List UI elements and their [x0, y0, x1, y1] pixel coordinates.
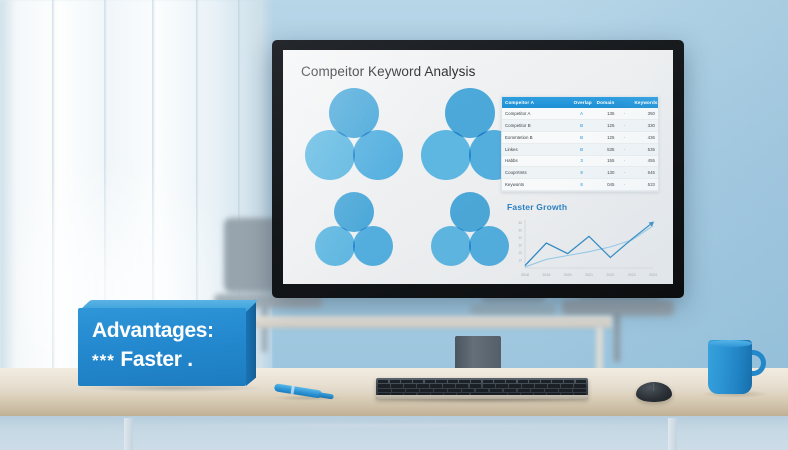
table-row[interactable]: Competitor AA135-350	[502, 108, 658, 119]
column-header-keywords[interactable]: Keywords	[631, 97, 658, 108]
chart-x-tick: 2018	[521, 273, 529, 277]
table-row[interactable]: LinkesB535-535	[502, 143, 658, 155]
mug-rim	[708, 340, 752, 347]
keyboard-row	[378, 384, 586, 387]
keyboard-key[interactable]	[430, 384, 442, 387]
keyboard-key[interactable]	[448, 389, 461, 392]
keyboard-key[interactable]	[470, 384, 482, 387]
cell-competitor: Cooprrtmts	[502, 167, 571, 179]
chart-x-tick: 2024	[649, 273, 657, 277]
block-side-face	[246, 300, 256, 386]
keyboard-key[interactable]	[552, 380, 562, 383]
cell-overlap: B	[571, 143, 593, 155]
block-period: .	[187, 348, 193, 371]
cell-dash: -	[617, 143, 631, 155]
keyboard-key[interactable]	[559, 389, 572, 392]
chart-x-tick: 2023	[628, 273, 636, 277]
chart-y-tick: 10	[518, 259, 522, 263]
keyboard-key[interactable]	[391, 384, 403, 387]
keyboard-key[interactable]	[483, 384, 495, 387]
keyboard-key[interactable]	[529, 380, 539, 383]
column-header-domain[interactable]: Domain	[592, 97, 617, 108]
cell-keywords: 645	[631, 167, 658, 179]
keyboard-key[interactable]	[401, 380, 411, 383]
slide-title: Compeitor Keyword Analysis	[301, 64, 475, 79]
cell-domain: 155	[592, 155, 617, 167]
block-line-2: *** Faster .	[92, 349, 238, 370]
keyboard-key[interactable]	[392, 389, 405, 392]
cell-overlap: B	[571, 131, 593, 143]
keyboard-key[interactable]	[494, 380, 504, 383]
desk-crossbar	[90, 424, 700, 428]
chart-y-axis-labels: 102030405060	[518, 221, 522, 263]
coffee-mug[interactable]	[708, 340, 766, 394]
keyboard-key[interactable]	[378, 380, 388, 383]
cell-dash: -	[617, 108, 631, 119]
computer-monitor: Compeitor Keyword Analysis	[272, 40, 684, 298]
chart-x-tick: 2020	[564, 273, 572, 277]
keyboard-key[interactable]	[504, 389, 517, 392]
cell-dash: -	[617, 179, 631, 191]
desk-leg	[124, 418, 133, 450]
cell-dash: -	[617, 167, 631, 179]
cell-competitor: Habbs	[502, 155, 571, 167]
block-word-faster: Faster	[120, 348, 181, 371]
keyboard-keys[interactable]	[378, 380, 586, 395]
cell-domain: 125	[592, 120, 617, 132]
chart-y-tick: 60	[518, 221, 522, 225]
cell-keywords: 533	[631, 179, 658, 191]
keyboard-key[interactable]	[420, 389, 433, 392]
keyboard-key[interactable]	[378, 384, 390, 387]
growth-chart[interactable]: Faster Growth 102030405060 2018201920202…	[501, 202, 659, 284]
venn-small-right[interactable]	[431, 192, 509, 270]
cell-competitor: Competitor A	[502, 108, 571, 119]
keyboard-key[interactable]	[378, 389, 391, 392]
table-header-row: Compeitor A Overlap Domain Keywords	[502, 97, 658, 108]
cell-dash: -	[617, 120, 631, 132]
keyboard-key[interactable]	[417, 384, 429, 387]
keyboard-key[interactable]	[434, 389, 447, 392]
cell-dash: -	[617, 155, 631, 167]
cell-domain: 125	[592, 131, 617, 143]
table-row[interactable]: Eommtetion BB125-436	[502, 131, 658, 143]
keyboard-key[interactable]	[506, 380, 516, 383]
keyboard-key[interactable]	[518, 380, 528, 383]
keyboard-key[interactable]	[404, 384, 416, 387]
keyboard-key[interactable]	[390, 380, 400, 383]
keyboard-key[interactable]	[476, 389, 489, 392]
block-stars: ***	[92, 351, 115, 370]
cell-competitor: Competitor B	[502, 120, 571, 132]
keyboard-key[interactable]	[462, 389, 475, 392]
cell-dash: -	[617, 131, 631, 143]
cell-keywords: 535	[631, 143, 658, 155]
keyboard-key[interactable]	[561, 384, 573, 387]
column-header-blank	[617, 97, 631, 108]
cell-keywords: 455	[631, 155, 658, 167]
keyword-table[interactable]: Compeitor A Overlap Domain Keywords Comp…	[501, 96, 659, 192]
chart-x-axis-labels: 2018201920202021202220232024	[521, 273, 657, 277]
keyboard-key[interactable]	[459, 380, 469, 383]
keyboard-key[interactable]	[574, 384, 586, 387]
keyboard-key[interactable]	[436, 380, 446, 383]
mouse-button-split	[653, 383, 654, 391]
office-scene: Compeitor Keyword Analysis	[0, 0, 788, 450]
keyboard-key[interactable]	[496, 384, 508, 387]
monitor-screen[interactable]: Compeitor Keyword Analysis	[283, 50, 673, 284]
cell-overlap: 3	[571, 155, 593, 167]
keyboard-key[interactable]	[483, 380, 493, 383]
chart-x-tick: 2022	[606, 273, 614, 277]
keyboard-key[interactable]	[535, 384, 547, 387]
cell-overlap: 8	[571, 167, 593, 179]
cell-keywords: 330	[631, 120, 658, 132]
advantages-block-sign: Advantages: *** Faster .	[78, 300, 254, 386]
keyboard-key[interactable]	[564, 380, 574, 383]
cell-competitor: Linkes	[502, 143, 571, 155]
keyboard-key[interactable]	[573, 389, 586, 392]
venn-small-left[interactable]	[315, 192, 393, 270]
keyboard[interactable]	[376, 378, 588, 399]
chart-line-growth	[525, 222, 653, 265]
chart-y-tick: 50	[518, 229, 522, 233]
pen-tip	[318, 392, 334, 399]
cell-domain: 135	[592, 108, 617, 119]
table-row[interactable]: Cooprrtmts8130-645	[502, 167, 658, 179]
keyboard-key[interactable]	[576, 380, 586, 383]
chart-y-tick: 30	[518, 244, 522, 248]
keyboard-row	[378, 380, 586, 383]
keyboard-key[interactable]	[509, 384, 521, 387]
background-desk-leg	[596, 326, 603, 372]
cell-competitor: Keywonts	[502, 179, 571, 191]
keyboard-key[interactable]	[548, 384, 560, 387]
keyboard-key[interactable]	[518, 389, 531, 392]
column-header-overlap[interactable]: Overlap	[571, 97, 593, 108]
keyboard-key[interactable]	[448, 380, 458, 383]
chart-line-trend	[525, 226, 653, 267]
chart-y-tick: 20	[518, 251, 522, 255]
cell-domain: 045	[592, 179, 617, 191]
cell-overlap: B	[571, 120, 593, 132]
chart-x-tick: 2019	[542, 273, 550, 277]
keyboard-key[interactable]	[406, 389, 419, 392]
keyboard-key[interactable]	[522, 384, 534, 387]
cell-keywords: 350	[631, 108, 658, 119]
keyboard-key[interactable]	[545, 389, 558, 392]
keyboard-key[interactable]	[443, 384, 455, 387]
cell-overlap: 8	[571, 179, 593, 191]
mug-body	[708, 340, 752, 394]
chart-y-tick: 40	[518, 236, 522, 240]
desk-leg	[668, 418, 677, 450]
keyboard-key[interactable]	[413, 380, 423, 383]
presentation-slide: Compeitor Keyword Analysis	[283, 50, 673, 284]
chart-svg: 102030405060 201820192020202120222023202…	[501, 214, 659, 284]
table-row[interactable]: Habbs3155-455	[502, 155, 658, 167]
table-row[interactable]: Competitor BB125-330	[502, 120, 658, 132]
keyboard-row	[378, 389, 586, 392]
block-text: Advantages: *** Faster .	[92, 320, 238, 370]
cell-keywords: 436	[631, 131, 658, 143]
cell-domain: 535	[592, 143, 617, 155]
keyboard-key[interactable]	[471, 380, 481, 383]
cell-domain: 130	[592, 167, 617, 179]
column-header-competitor[interactable]: Compeitor A	[502, 97, 571, 108]
venn-large-left[interactable]	[305, 88, 403, 186]
cell-competitor: Eommtetion B	[502, 131, 571, 143]
table-row[interactable]: Keywonts8045-533	[502, 179, 658, 191]
cell-overlap: A	[571, 108, 593, 119]
venn-diagram-group	[299, 88, 509, 273]
keyboard-key[interactable]	[490, 389, 503, 392]
keyboard-key[interactable]	[531, 389, 544, 392]
keyboard-key[interactable]	[541, 380, 551, 383]
mouse[interactable]	[636, 382, 672, 402]
chart-title: Faster Growth	[507, 202, 659, 212]
chart-x-tick: 2021	[585, 273, 593, 277]
keyboard-base	[376, 395, 588, 399]
keyboard-key[interactable]	[456, 384, 468, 387]
block-line-1: Advantages:	[92, 320, 238, 341]
keyboard-key[interactable]	[425, 380, 435, 383]
